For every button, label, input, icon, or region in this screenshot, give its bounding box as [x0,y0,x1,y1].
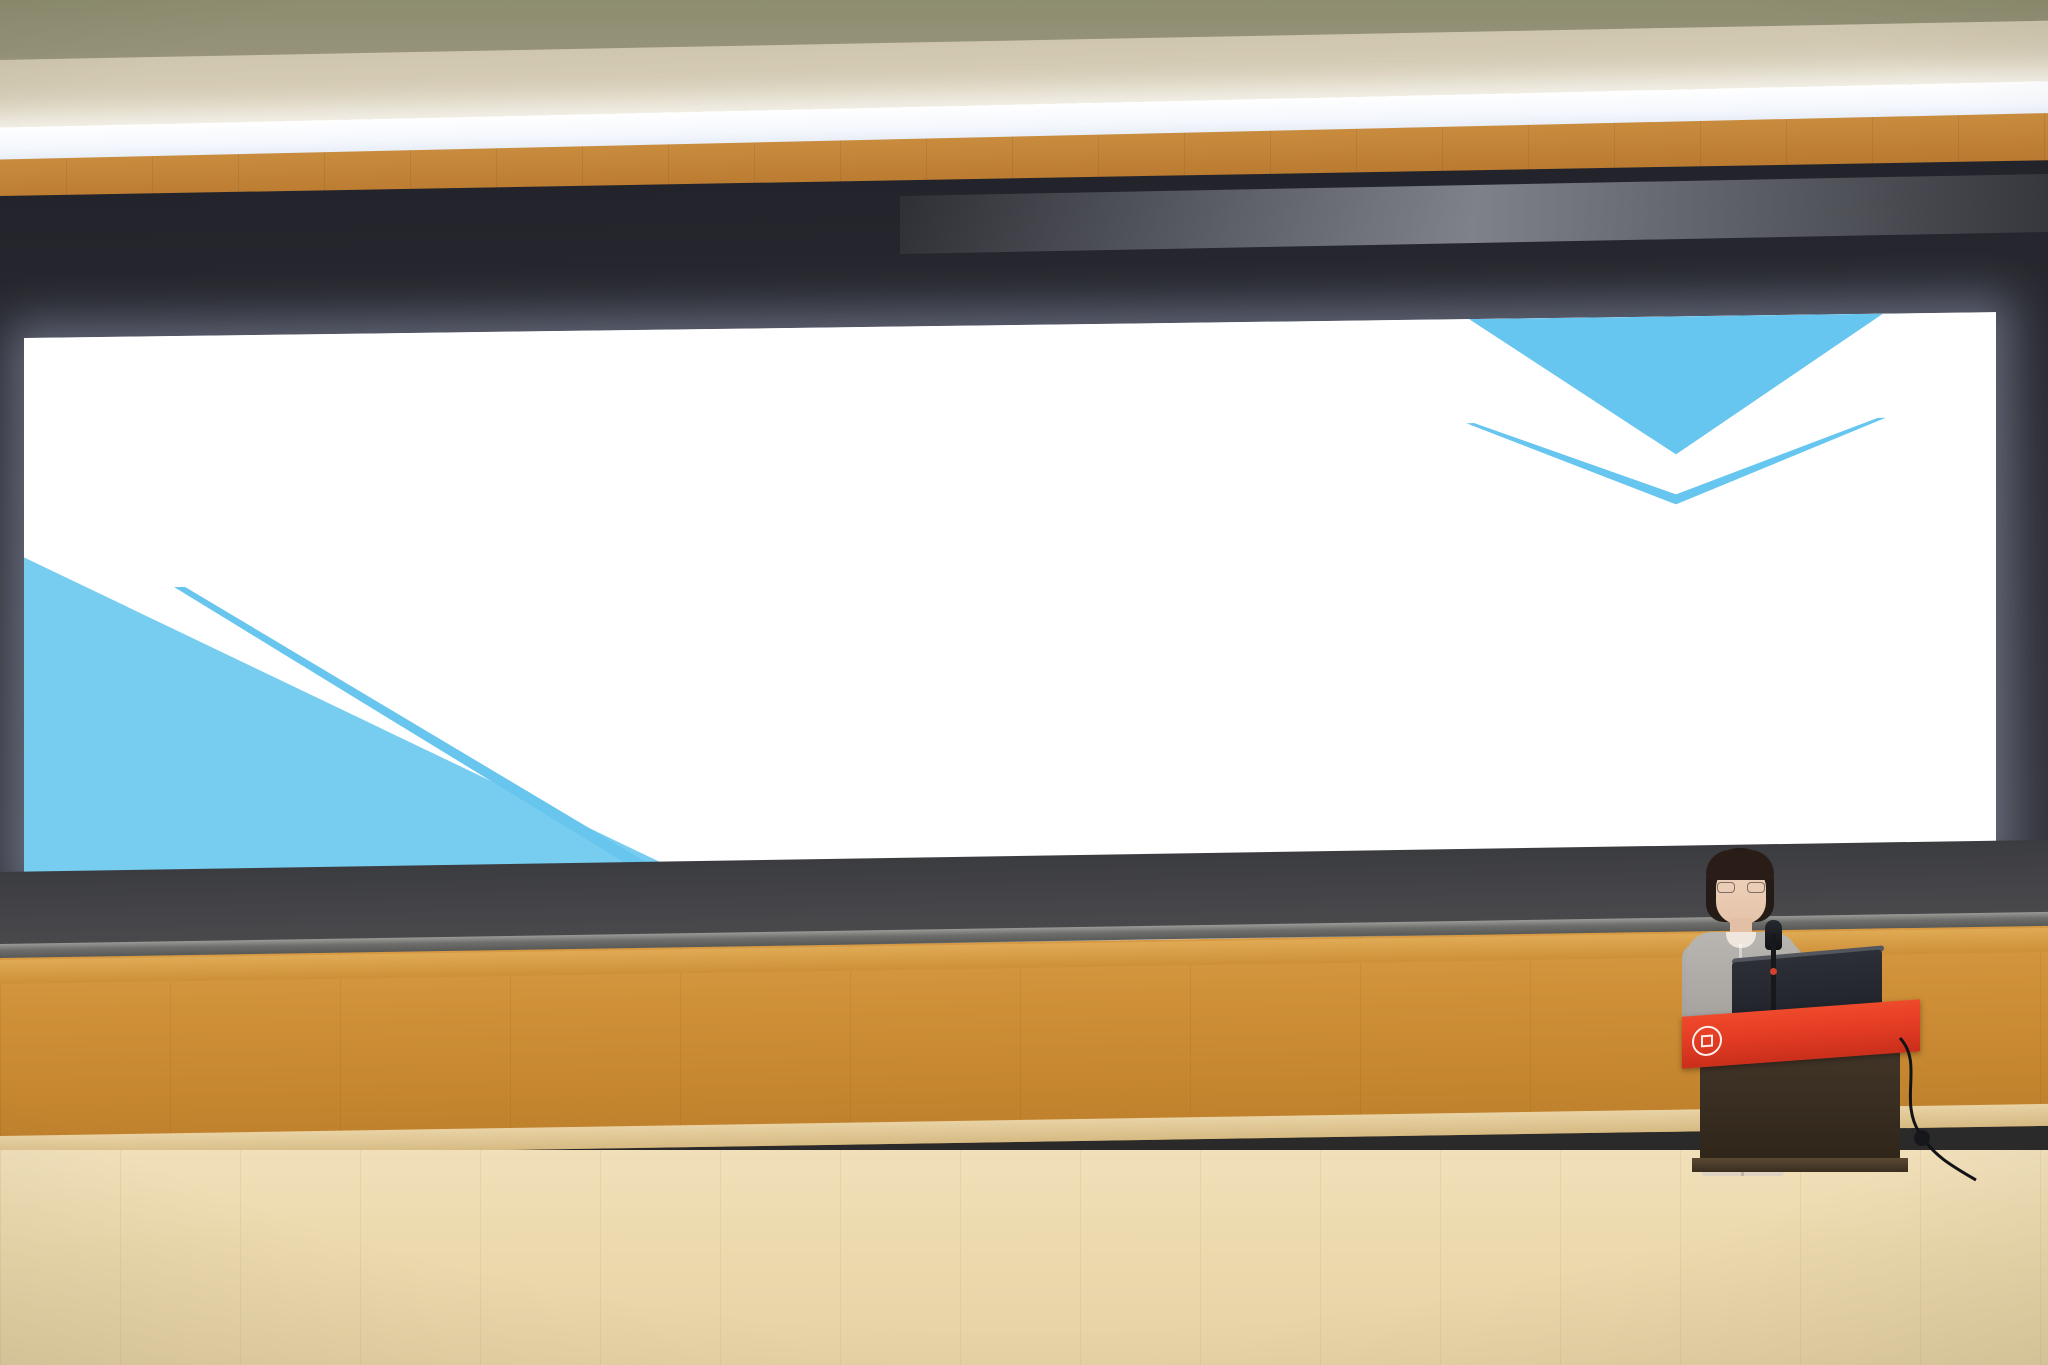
slide-date [24,617,1996,643]
chevron-down-outline-icon [1466,418,1886,507]
university-seal-icon [1692,1025,1722,1057]
audience [0,1150,2048,1365]
projection-screen [24,312,1996,883]
microphone-indicator [1770,968,1777,975]
diagonal-triangle-shape [24,458,694,883]
podium [1640,838,1980,1178]
auditorium-photo [0,0,2048,1365]
slide-canvas [24,312,1996,883]
